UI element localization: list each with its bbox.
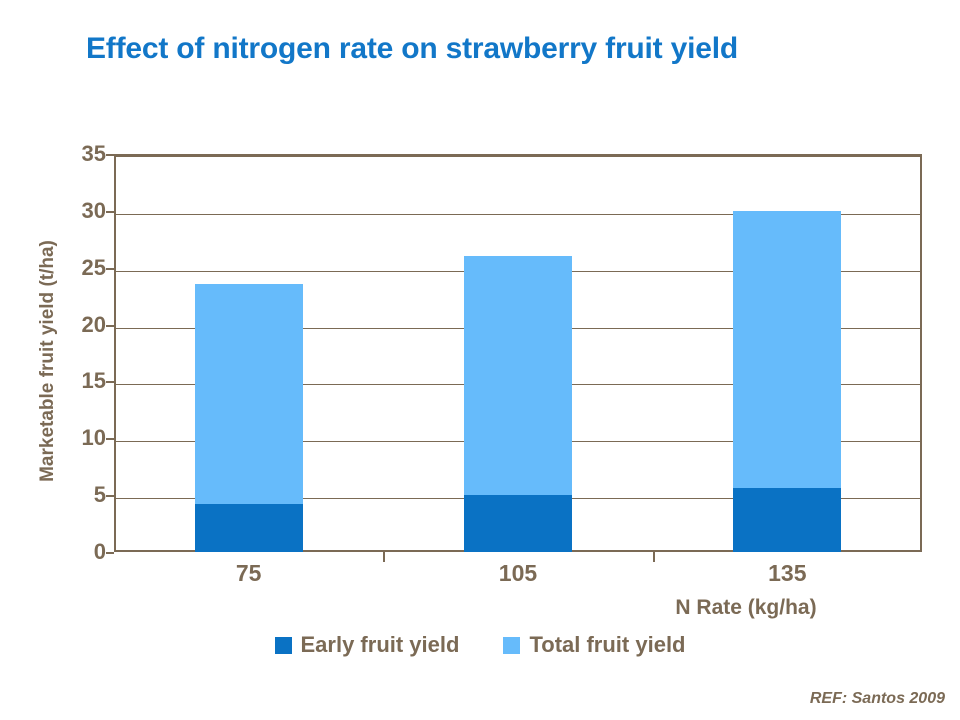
y-tick-label: 0	[54, 539, 106, 565]
bar-group[interactable]	[195, 154, 303, 552]
x-axis-title: N Rate (kg/ha)	[566, 596, 926, 620]
legend-item[interactable]: Early fruit yield	[275, 632, 460, 658]
legend-label: Total fruit yield	[529, 632, 685, 658]
y-tick-mark	[106, 552, 114, 554]
y-axis-title: Marketable fruit yield (t/ha)	[37, 161, 59, 561]
y-tick-label: 10	[54, 425, 106, 451]
x-tick-label: 135	[653, 560, 922, 594]
bar-early-fruit-yield[interactable]	[733, 488, 841, 552]
y-tick-mark	[106, 325, 114, 327]
y-tick-label: 30	[54, 198, 106, 224]
bar-group[interactable]	[733, 154, 841, 552]
y-tick-mark	[106, 438, 114, 440]
y-tick-label: 25	[54, 255, 106, 281]
chart-legend: Early fruit yieldTotal fruit yield	[0, 632, 960, 658]
x-tick-mark	[653, 552, 655, 562]
y-tick-mark	[106, 268, 114, 270]
y-tick-mark	[106, 211, 114, 213]
y-tick-label: 15	[54, 368, 106, 394]
bars-layer	[114, 154, 922, 552]
x-tick-label: 105	[383, 560, 652, 594]
legend-label: Early fruit yield	[301, 632, 460, 658]
legend-item[interactable]: Total fruit yield	[503, 632, 685, 658]
y-tick-mark	[106, 381, 114, 383]
y-tick-label: 20	[54, 312, 106, 338]
reference-note: REF: Santos 2009	[600, 690, 945, 708]
slide-canvas: Effect of nitrogen rate on strawberry fr…	[0, 0, 960, 720]
y-tick-mark	[106, 154, 114, 156]
y-tick-mark	[106, 495, 114, 497]
chart-figure: 35302520151050 Marketable fruit yield (t…	[0, 0, 960, 720]
bar-group[interactable]	[464, 154, 572, 552]
y-tick-label: 5	[54, 482, 106, 508]
x-tick-mark	[383, 552, 385, 562]
x-axis-labels: 75105135	[114, 560, 922, 594]
bar-early-fruit-yield[interactable]	[195, 504, 303, 552]
y-tick-label: 35	[54, 141, 106, 167]
bar-early-fruit-yield[interactable]	[464, 495, 572, 552]
legend-swatch-icon	[503, 637, 520, 654]
x-tick-label: 75	[114, 560, 383, 594]
legend-swatch-icon	[275, 637, 292, 654]
